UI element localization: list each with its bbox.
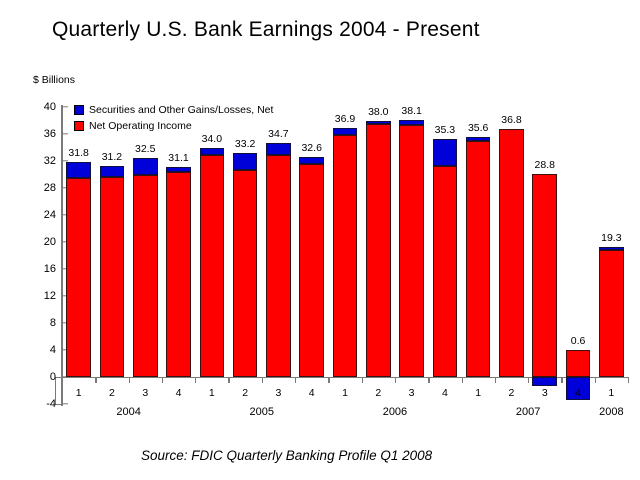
bar-segment-securities-gains-losses[interactable] bbox=[466, 137, 491, 142]
x-axis-year-label: 2008 bbox=[599, 406, 623, 418]
bar-segment-securities-gains-losses[interactable] bbox=[200, 148, 225, 155]
x-axis-tick-mark bbox=[628, 377, 629, 383]
x-axis-quarter-label: 1 bbox=[76, 387, 82, 399]
bar-segment-net-operating-income[interactable] bbox=[433, 166, 458, 377]
bar-segment-securities-gains-losses[interactable] bbox=[366, 121, 391, 124]
bar-segment-net-operating-income[interactable] bbox=[200, 155, 225, 377]
bar-segment-securities-gains-losses[interactable] bbox=[166, 167, 191, 172]
x-axis-quarter-label: 4 bbox=[176, 387, 182, 399]
x-axis-year-label: 2007 bbox=[516, 406, 540, 418]
bar-segment-net-operating-income[interactable] bbox=[100, 177, 125, 377]
bar-value-label: 34.0 bbox=[202, 133, 222, 145]
bar-value-label: 38.0 bbox=[368, 106, 388, 118]
x-axis-quarter-label: 4 bbox=[309, 387, 315, 399]
x-axis-quarter-label: 4 bbox=[575, 387, 581, 399]
bar-segment-net-operating-income[interactable] bbox=[133, 175, 158, 378]
bar-segment-securities-gains-losses[interactable] bbox=[299, 157, 324, 164]
x-axis-tick-mark bbox=[495, 377, 496, 383]
x-axis-quarter-label: 1 bbox=[475, 387, 481, 399]
bar-value-label: 31.2 bbox=[102, 151, 122, 163]
bar-segment-net-operating-income[interactable] bbox=[499, 129, 524, 377]
x-axis-tick-mark bbox=[228, 377, 229, 383]
bar-segment-net-operating-income[interactable] bbox=[566, 350, 591, 377]
x-axis-quarter-label: 3 bbox=[409, 387, 415, 399]
chart-container: Quarterly U.S. Bank Earnings 2004 - Pres… bbox=[0, 0, 640, 480]
bar-value-label: 32.5 bbox=[135, 143, 155, 155]
bar-group[interactable]: 31.2 bbox=[100, 107, 125, 404]
y-axis-tick-label: 4 bbox=[0, 344, 62, 356]
bar-segment-securities-gains-losses[interactable] bbox=[433, 139, 458, 166]
bar-group[interactable]: 34.0 bbox=[200, 107, 225, 404]
x-axis-quarter-label: 2 bbox=[509, 387, 515, 399]
bar-segment-securities-gains-losses[interactable] bbox=[266, 143, 291, 155]
bar-group[interactable]: 31.1 bbox=[166, 107, 191, 404]
x-axis-quarter-label: 4 bbox=[442, 387, 448, 399]
y-axis-tick-label: 12 bbox=[0, 290, 62, 302]
bar-group[interactable]: 36.9 bbox=[333, 107, 358, 404]
x-axis-quarter-label: 3 bbox=[542, 387, 548, 399]
bar-segment-net-operating-income[interactable] bbox=[266, 155, 291, 377]
bar-group[interactable]: 34.7 bbox=[266, 107, 291, 404]
bar-segment-securities-gains-losses[interactable] bbox=[66, 162, 91, 178]
bar-segment-net-operating-income[interactable] bbox=[66, 178, 91, 377]
bar-group[interactable]: 38.0 bbox=[366, 107, 391, 404]
x-axis-tick-mark bbox=[95, 377, 96, 383]
x-axis-year-label: 2004 bbox=[116, 406, 140, 418]
source-note: Source: FDIC Quarterly Banking Profile Q… bbox=[141, 448, 432, 463]
bar-group[interactable]: 32.6 bbox=[299, 107, 324, 404]
bar-group[interactable]: 19.3 bbox=[599, 107, 624, 404]
y-axis-tick-label: 8 bbox=[0, 317, 62, 329]
x-axis-year-label: 2005 bbox=[250, 406, 274, 418]
y-axis-tick-label: 0 bbox=[0, 371, 62, 383]
x-axis-tick-mark bbox=[362, 377, 363, 383]
x-axis-quarter-label: 1 bbox=[342, 387, 348, 399]
bar-segment-securities-gains-losses[interactable] bbox=[399, 120, 424, 125]
bar-segment-securities-gains-losses[interactable] bbox=[100, 166, 125, 176]
bar-segment-net-operating-income[interactable] bbox=[532, 174, 557, 377]
y-axis-tick-label: 32 bbox=[0, 155, 62, 167]
bar-group[interactable]: 35.6 bbox=[466, 107, 491, 404]
x-axis-tick-mark bbox=[295, 377, 296, 383]
bar-group[interactable]: 38.1 bbox=[399, 107, 424, 404]
x-axis: 1234123412341234120042005200620072008 bbox=[62, 377, 628, 437]
bar-value-label: 38.1 bbox=[401, 105, 421, 117]
bar-group[interactable]: 28.8 bbox=[532, 107, 557, 404]
bar-value-label: 33.2 bbox=[235, 138, 255, 150]
chart-title: Quarterly U.S. Bank Earnings 2004 - Pres… bbox=[52, 18, 480, 42]
y-axis-tick-label: 16 bbox=[0, 263, 62, 275]
x-axis-quarter-label: 2 bbox=[242, 387, 248, 399]
bar-value-label: 28.8 bbox=[535, 159, 555, 171]
bar-segment-net-operating-income[interactable] bbox=[233, 170, 258, 377]
x-axis-quarter-label: 2 bbox=[375, 387, 381, 399]
bar-value-label: 31.8 bbox=[68, 147, 88, 159]
bar-segment-net-operating-income[interactable] bbox=[333, 135, 358, 377]
bar-value-label: 36.8 bbox=[501, 114, 521, 126]
bar-value-label: 34.7 bbox=[268, 128, 288, 140]
y-axis-tick-label: 40 bbox=[0, 101, 62, 113]
bar-segment-net-operating-income[interactable] bbox=[366, 124, 391, 377]
bar-segment-net-operating-income[interactable] bbox=[166, 172, 191, 377]
bar-segment-securities-gains-losses[interactable] bbox=[599, 247, 624, 250]
x-axis-year-label: 2006 bbox=[383, 406, 407, 418]
bar-group[interactable]: 33.2 bbox=[233, 107, 258, 404]
y-axis-tick-label: 24 bbox=[0, 209, 62, 221]
bar-value-label: 19.3 bbox=[601, 232, 621, 244]
bar-group[interactable]: 32.5 bbox=[133, 107, 158, 404]
x-axis-tick-mark bbox=[162, 377, 163, 383]
bar-value-label: 35.6 bbox=[468, 122, 488, 134]
bar-segment-securities-gains-losses[interactable] bbox=[333, 128, 358, 135]
bar-segment-securities-gains-losses[interactable] bbox=[133, 158, 158, 175]
bar-value-label: 32.6 bbox=[301, 142, 321, 154]
bar-value-label: 35.3 bbox=[435, 124, 455, 136]
x-axis-tick-mark bbox=[561, 377, 562, 383]
y-axis-tick-label: 28 bbox=[0, 182, 62, 194]
x-axis-tick-mark bbox=[129, 377, 130, 383]
bar-group[interactable]: 35.3 bbox=[433, 107, 458, 404]
plot-area: 31.831.232.531.134.033.234.732.636.938.0… bbox=[62, 107, 628, 404]
bar-value-label: 0.6 bbox=[571, 335, 586, 347]
x-axis-tick-mark bbox=[428, 377, 429, 383]
bar-group[interactable]: 36.8 bbox=[499, 107, 524, 404]
x-axis-tick-mark bbox=[195, 377, 196, 383]
bar-segment-securities-gains-losses[interactable] bbox=[233, 153, 258, 170]
x-axis-quarter-label: 3 bbox=[142, 387, 148, 399]
bar-value-label: 36.9 bbox=[335, 113, 355, 125]
y-axis-unit-label: $ Billions bbox=[33, 74, 75, 86]
bar-value-label: 31.1 bbox=[168, 152, 188, 164]
bar-segment-net-operating-income[interactable] bbox=[399, 125, 424, 377]
y-axis-tick-label: 20 bbox=[0, 236, 62, 248]
bar-segment-net-operating-income[interactable] bbox=[466, 141, 491, 377]
x-axis-tick-mark bbox=[595, 377, 596, 383]
x-axis-tick-mark bbox=[528, 377, 529, 383]
x-axis-quarter-label: 3 bbox=[275, 387, 281, 399]
x-axis-tick-mark bbox=[395, 377, 396, 383]
x-axis-tick-mark bbox=[328, 377, 329, 383]
x-axis-tick-mark bbox=[462, 377, 463, 383]
bar-segment-net-operating-income[interactable] bbox=[299, 164, 324, 377]
bar-group[interactable]: 31.8 bbox=[66, 107, 91, 404]
x-axis-quarter-label: 2 bbox=[109, 387, 115, 399]
bar-segment-net-operating-income[interactable] bbox=[599, 250, 624, 377]
x-axis-quarter-label: 1 bbox=[209, 387, 215, 399]
x-axis-tick-mark bbox=[262, 377, 263, 383]
bar-group[interactable]: 0.6 bbox=[566, 107, 591, 404]
x-axis-quarter-label: 1 bbox=[608, 387, 614, 399]
x-axis-tick-mark bbox=[62, 377, 63, 383]
y-axis-tick-label: -4 bbox=[0, 398, 62, 410]
y-axis-tick-label: 36 bbox=[0, 128, 62, 140]
